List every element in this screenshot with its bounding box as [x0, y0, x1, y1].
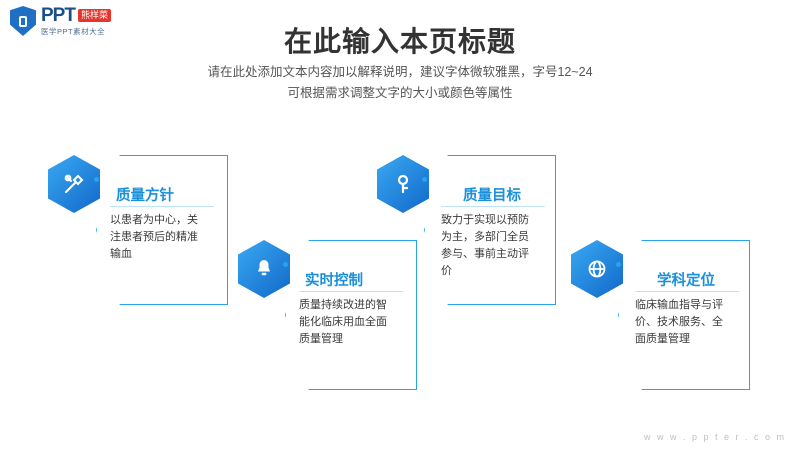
card-divider-3 [441, 206, 545, 207]
card-dot-2 [283, 262, 288, 267]
subtitle-line-1: 请在此处添加文本内容加以解释说明，建议字体微软雅黑，字号12~24 [0, 62, 800, 83]
card-heading-4: 学科定位 [657, 269, 715, 290]
card-heading-2: 实时控制 [305, 269, 363, 290]
card-divider-2 [299, 291, 403, 292]
page-title: 在此输入本页标题 [0, 20, 800, 60]
globe-icon [571, 240, 623, 298]
card-body-1: 以患者为中心，关注患者预后的精准输血 [110, 212, 206, 263]
key-icon [377, 155, 429, 213]
bell-icon [238, 240, 290, 298]
page-subtitle: 请在此处添加文本内容加以解释说明，建议字体微软雅黑，字号12~24 可根据需求调… [0, 62, 800, 104]
card-dot-4 [616, 262, 621, 267]
card-body-2: 质量持续改进的智能化临床用血全面质量管理 [299, 297, 395, 348]
card-dot-1 [94, 177, 99, 182]
card-divider-1 [110, 206, 214, 207]
card-heading-1: 质量方针 [116, 184, 174, 205]
subtitle-line-2: 可根据需求调整文字的大小或颜色等属性 [0, 83, 800, 104]
watermark: w w w . p p t e r . c o m [644, 432, 786, 442]
card-body-3: 致力于实现以预防为主，多部门全员参与、事前主动评价 [441, 212, 537, 280]
card-dot-3 [422, 177, 427, 182]
card-divider-4 [635, 291, 739, 292]
card-heading-3: 质量目标 [463, 184, 521, 205]
card-body-4: 临床输血指导与评价、技术服务、全面质量管理 [635, 297, 731, 348]
wrench-screwdriver-icon [48, 155, 100, 213]
